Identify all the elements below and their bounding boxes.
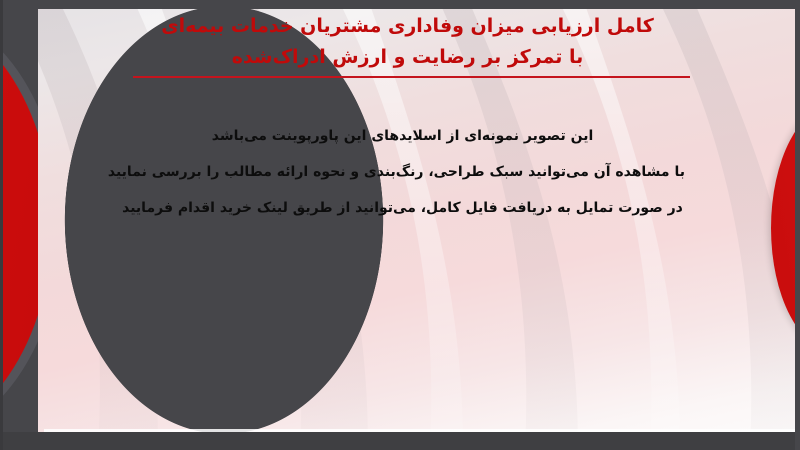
title-divider-rule	[133, 76, 690, 78]
slide-title-line-1: کامل ارزیابی میزان وفاداری مشتریان خدمات…	[120, 11, 695, 42]
slide-title: کامل ارزیابی میزان وفاداری مشتریان خدمات…	[120, 11, 695, 73]
frame-bottom-band	[0, 432, 800, 450]
frame-right-band	[795, 0, 800, 450]
slide-canvas: کامل ارزیابی میزان وفاداری مشتریان خدمات…	[0, 0, 800, 450]
frame-top-band	[0, 0, 800, 9]
slide-title-line-2: با تمرکز بر رضایت و ارزش ادراک‌شده	[120, 42, 695, 73]
frame-left-band	[0, 0, 3, 450]
slide-body-line-3: در صورت تمایل به دریافت فایل کامل، می‌تو…	[120, 190, 685, 226]
slide-body-line-1: این تصویر نمونه‌ای از اسلایدهای این پاور…	[120, 118, 685, 154]
slide-body: این تصویر نمونه‌ای از اسلایدهای این پاور…	[120, 118, 685, 226]
slide-body-line-2: با مشاهده آن می‌توانید سبک طراحی، رنگ‌بن…	[120, 154, 685, 190]
